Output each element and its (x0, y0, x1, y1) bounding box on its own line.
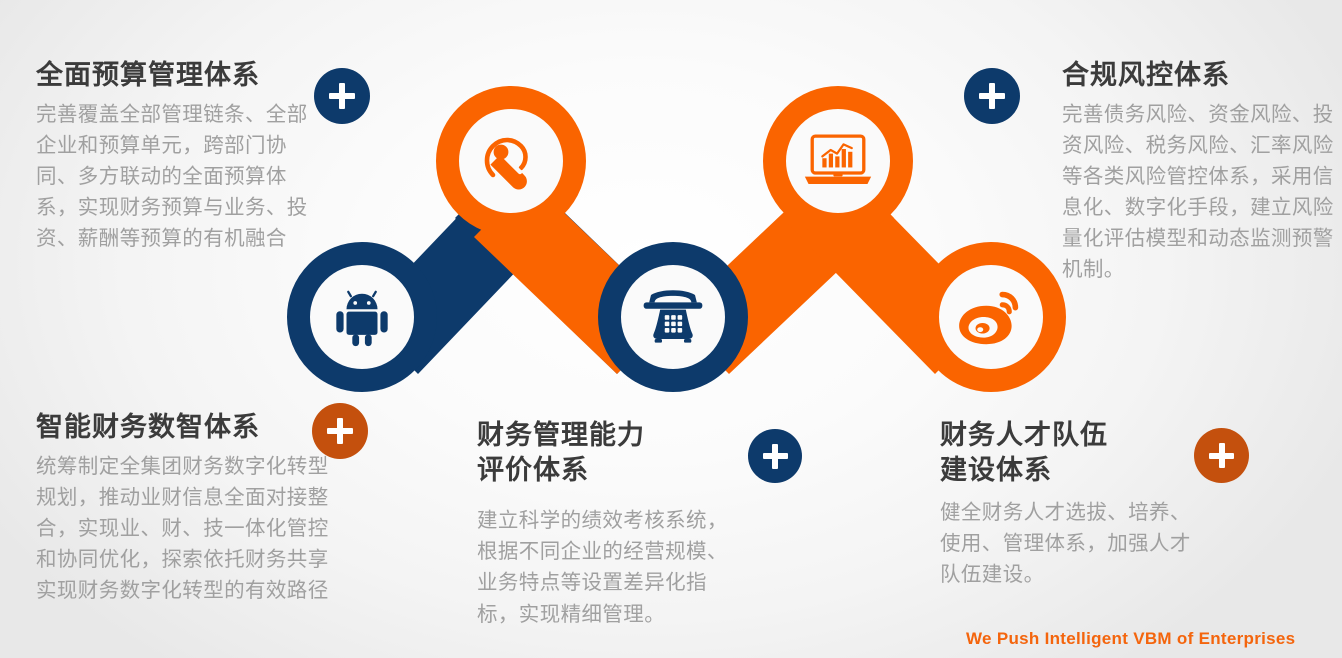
block-budget-body: 完善覆盖全部管理链条、全部企业和预算单元，跨部门协同、多方联动的全面预算体系，实… (36, 99, 308, 255)
tagline: We Push Intelligent VBM of Enterprises (966, 629, 1295, 649)
block-evaluation-title: 财务管理能力 评价体系 (477, 418, 745, 487)
node-telephone[interactable] (598, 242, 748, 392)
plus-badge-budget[interactable] (314, 68, 370, 124)
block-smart-finance-title: 智能财务数智体系 (36, 410, 341, 445)
block-talent-body: 健全财务人才选拔、培养、使用、管理体系，加强人才队伍建设。 (940, 497, 1192, 590)
plus-vertical-bar (1219, 443, 1225, 468)
node-weibo[interactable] (916, 242, 1066, 392)
block-talent-title: 财务人才队伍 建设体系 (940, 418, 1192, 487)
paperclip-icon (479, 129, 543, 193)
block-smart-finance: 智能财务数智体系 统筹制定全集团财务数字化转型规划，推动业财信息全面对接整合，实… (36, 410, 341, 606)
node-paperclip[interactable] (436, 86, 586, 236)
plus-badge-talent[interactable] (1194, 428, 1249, 483)
laptop-chart-icon (803, 132, 873, 190)
block-risk-body: 完善债务风险、资金风险、投资风险、税务风险、汇率风险等各类风险管控体系，采用信息… (1062, 99, 1337, 286)
plus-vertical-bar (772, 444, 778, 469)
block-evaluation: 财务管理能力 评价体系 建立科学的绩效考核系统，根据不同企业的经营规模、业务特点… (477, 418, 745, 630)
plus-badge-risk[interactable] (964, 68, 1020, 124)
node-android[interactable] (287, 242, 437, 392)
block-smart-finance-body: 统筹制定全集团财务数字化转型规划，推动业财信息全面对接整合，实现业、财、技一体化… (36, 451, 341, 607)
android-icon (331, 286, 393, 348)
plus-badge-evaluation[interactable] (748, 429, 802, 483)
telephone-icon (640, 289, 706, 345)
plus-vertical-bar (989, 83, 995, 109)
infographic-canvas: 全面预算管理体系 完善覆盖全部管理链条、全部企业和预算单元，跨部门协同、多方联动… (0, 0, 1342, 658)
node-laptop-chart[interactable] (763, 86, 913, 236)
block-budget-title: 全面预算管理体系 (36, 58, 308, 93)
weibo-icon (957, 287, 1025, 347)
block-budget: 全面预算管理体系 完善覆盖全部管理链条、全部企业和预算单元，跨部门协同、多方联动… (36, 58, 308, 254)
block-risk: 合规风控体系 完善债务风险、资金风险、投资风险、税务风险、汇率风险等各类风险管控… (1062, 58, 1337, 285)
block-talent: 财务人才队伍 建设体系 健全财务人才选拔、培养、使用、管理体系，加强人才队伍建设… (940, 418, 1192, 591)
block-risk-title: 合规风控体系 (1062, 58, 1337, 93)
block-evaluation-body: 建立科学的绩效考核系统，根据不同企业的经营规模、业务特点等设置差异化指标，实现精… (477, 505, 745, 630)
plus-vertical-bar (339, 83, 345, 109)
